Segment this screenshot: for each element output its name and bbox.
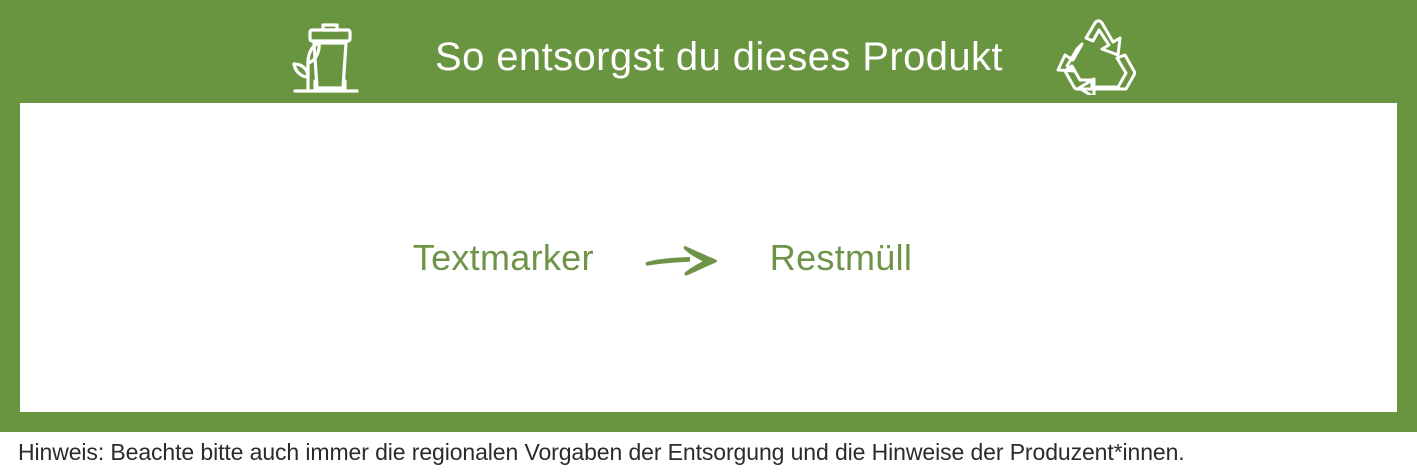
trash-bin-with-plant-icon: [281, 19, 371, 99]
page-title: So entsorgst du dieses Produkt: [409, 26, 1029, 88]
recycling-symbol-icon: [1056, 19, 1142, 95]
destination-label: Restmüll: [770, 237, 912, 279]
footer-note: Hinweis: Beachte bitte auch immer die re…: [18, 432, 1185, 472]
disposal-route: Textmarker Restmüll: [20, 103, 1397, 412]
product-label: Textmarker: [413, 237, 594, 279]
disposal-info-graphic: So entsorgst du dieses Produkt Textmarke…: [0, 0, 1417, 472]
content-panel: Textmarker Restmüll: [20, 103, 1397, 412]
header-bar: So entsorgst du dieses Produkt: [0, 0, 1417, 103]
arrow-right-icon: [644, 242, 720, 278]
footer-bar: Hinweis: Beachte bitte auch immer die re…: [0, 432, 1417, 472]
